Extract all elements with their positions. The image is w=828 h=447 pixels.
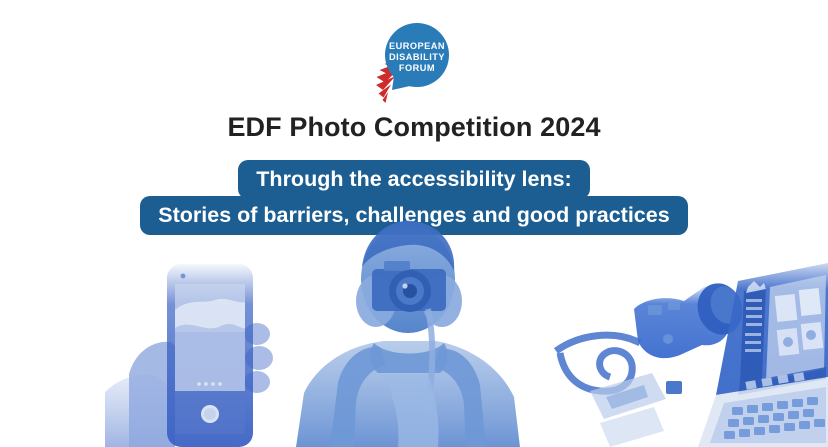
logo-line-1: EUROPEAN [389, 41, 445, 51]
photo-strip [0, 217, 828, 447]
phone-sensor [181, 274, 186, 279]
camera-viewfinder-hump [384, 261, 410, 271]
subtitle-line-1-row: Through the accessibility lens: [0, 160, 828, 199]
dslr-camera-and-laptop [548, 247, 828, 447]
camera-and-laptop-icon [548, 247, 828, 447]
european-disability-forum-logo: EUROPEAN DISABILITY FORUM [354, 18, 474, 110]
mode-dot-1 [197, 382, 201, 386]
lens-highlight [402, 283, 407, 288]
shutter-button-inner [204, 408, 216, 420]
subtitle-line-1: Through the accessibility lens: [238, 160, 589, 199]
person-taking-photo-with-camera [288, 217, 528, 447]
person-with-camera-icon [288, 217, 528, 447]
page-title: EDF Photo Competition 2024 [0, 110, 828, 144]
logo-icon: EUROPEAN DISABILITY FORUM [354, 18, 474, 110]
logo-line-2: DISABILITY [389, 52, 445, 62]
logo-line-3: FORUM [399, 63, 435, 73]
hand-holding-smartphone-icon [105, 242, 315, 447]
edf-photo-competition-banner: EUROPEAN DISABILITY FORUM EDF Photo Comp… [0, 0, 828, 447]
viewfinder-landscape [175, 324, 245, 391]
camera-button [668, 301, 680, 310]
hand-holding-smartphone-camera [105, 242, 315, 447]
memory-card [666, 381, 682, 394]
mode-dot-4 [218, 382, 222, 386]
camera-dial [648, 305, 662, 315]
mode-dot-3 [211, 382, 215, 386]
logo-block: EUROPEAN DISABILITY FORUM [0, 18, 828, 110]
strap-left [556, 335, 640, 351]
camera-grip-detail [663, 334, 673, 344]
mode-dot-2 [204, 382, 208, 386]
